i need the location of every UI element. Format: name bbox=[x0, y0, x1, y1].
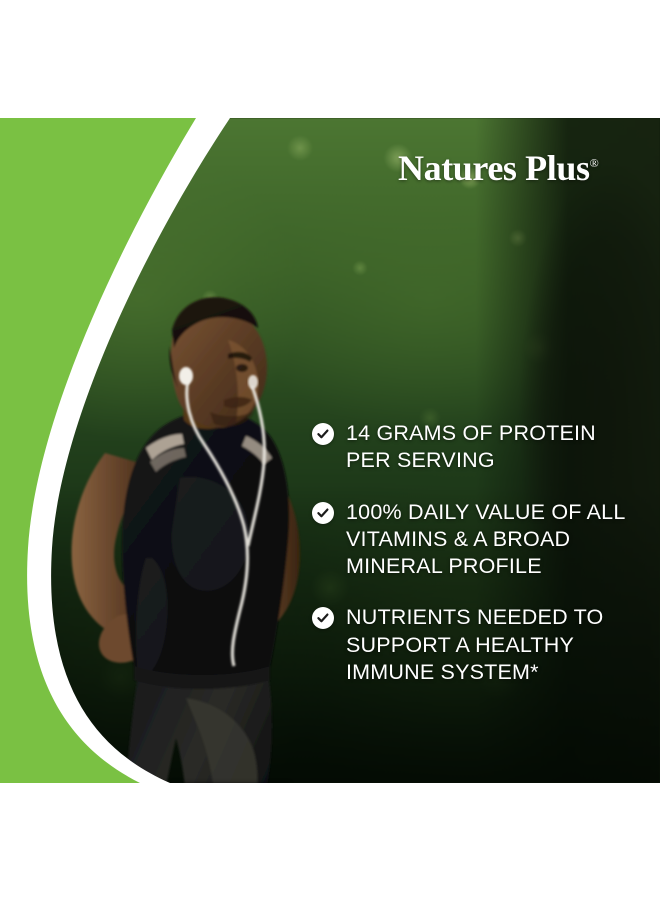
brand-name: Natures Plus bbox=[398, 148, 590, 188]
brand-logo: Natures Plus® bbox=[398, 150, 599, 186]
benefit-item: NUTRIENTS NEEDED TO SUPPORT A HEALTHY IM… bbox=[312, 604, 632, 686]
check-circle-icon bbox=[312, 423, 334, 445]
registered-trademark-icon: ® bbox=[590, 156, 599, 170]
check-circle-icon bbox=[312, 502, 334, 524]
product-hero-banner: Natures Plus® 14 GRAMS OF PROTEIN PER SE… bbox=[0, 0, 660, 900]
benefit-text: NUTRIENTS NEEDED TO SUPPORT A HEALTHY IM… bbox=[346, 604, 632, 686]
benefits-list: 14 GRAMS OF PROTEIN PER SERVING 100% DAI… bbox=[312, 420, 632, 686]
check-circle-icon bbox=[312, 607, 334, 629]
benefit-item: 100% DAILY VALUE OF ALL VITAMINS & A BRO… bbox=[312, 499, 632, 581]
benefit-text: 14 GRAMS OF PROTEIN PER SERVING bbox=[346, 420, 632, 475]
benefit-item: 14 GRAMS OF PROTEIN PER SERVING bbox=[312, 420, 632, 475]
benefit-text: 100% DAILY VALUE OF ALL VITAMINS & A BRO… bbox=[346, 499, 632, 581]
